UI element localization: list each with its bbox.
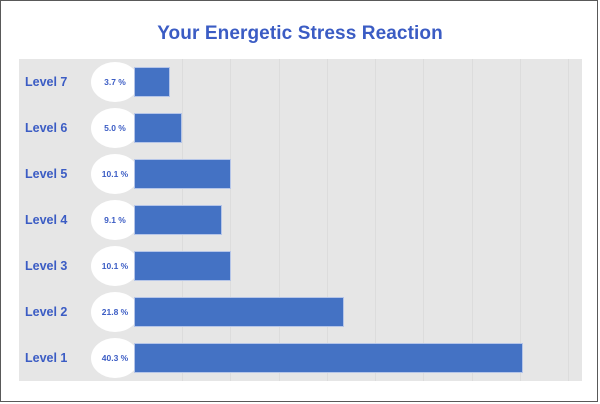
category-label: Level 3 (25, 259, 87, 273)
bar (134, 297, 344, 327)
category-label: Level 2 (25, 305, 87, 319)
bar (134, 205, 222, 235)
bar-row: Level 65.0 % (19, 105, 582, 151)
bar-rows: Level 73.7 %Level 65.0 %Level 510.1 %Lev… (19, 59, 582, 381)
bar-row: Level 310.1 % (19, 243, 582, 289)
bar (134, 113, 182, 143)
value-label: 5.0 % (104, 123, 126, 133)
value-bubble: 5.0 % (91, 108, 139, 148)
category-label: Level 7 (25, 75, 87, 89)
value-bubble: 10.1 % (91, 246, 139, 286)
bar-row: Level 49.1 % (19, 197, 582, 243)
bar (134, 67, 170, 97)
bar (134, 251, 231, 281)
value-bubble: 10.1 % (91, 154, 139, 194)
category-label: Level 6 (25, 121, 87, 135)
value-label: 40.3 % (102, 353, 128, 363)
chart-frame: Your Energetic Stress Reaction Level 73.… (0, 0, 598, 402)
category-label: Level 4 (25, 213, 87, 227)
bar-row: Level 140.3 % (19, 335, 582, 381)
value-bubble: 3.7 % (91, 62, 139, 102)
bar-row: Level 510.1 % (19, 151, 582, 197)
value-label: 21.8 % (102, 307, 128, 317)
value-bubble: 21.8 % (91, 292, 139, 332)
chart-title: Your Energetic Stress Reaction (1, 23, 599, 45)
bar-row: Level 73.7 % (19, 59, 582, 105)
value-bubble: 40.3 % (91, 338, 139, 378)
value-label: 10.1 % (102, 169, 128, 179)
bar (134, 159, 231, 189)
value-label: 3.7 % (104, 77, 126, 87)
plot-area: Level 73.7 %Level 65.0 %Level 510.1 %Lev… (19, 59, 582, 381)
bar (134, 343, 523, 373)
value-label: 9.1 % (104, 215, 126, 225)
category-label: Level 5 (25, 167, 87, 181)
category-label: Level 1 (25, 351, 87, 365)
value-label: 10.1 % (102, 261, 128, 271)
bar-row: Level 221.8 % (19, 289, 582, 335)
value-bubble: 9.1 % (91, 200, 139, 240)
